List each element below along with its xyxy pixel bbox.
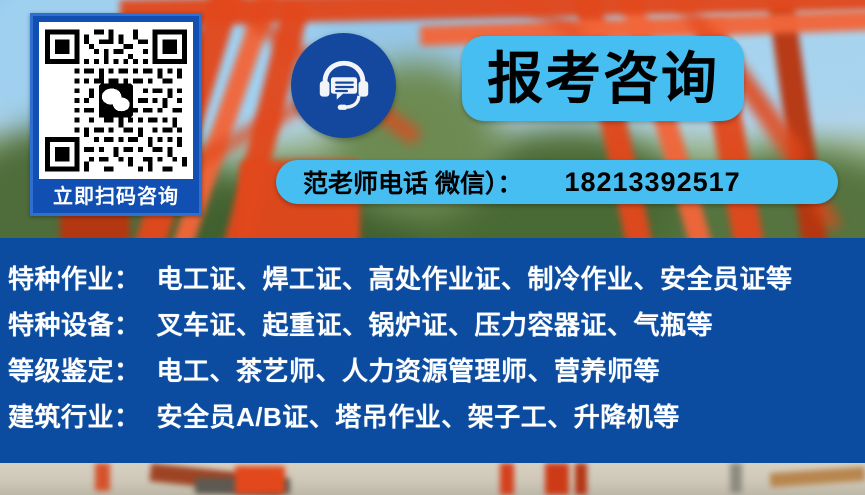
ground-object	[575, 463, 587, 495]
ground-object	[500, 463, 514, 495]
page-title: 报考咨询	[487, 51, 719, 107]
info-row-construction-industry: 建筑行业： 安全员A/B证、塔吊作业、架子工、升降机等	[0, 392, 865, 438]
info-row-label: 等级鉴定：	[8, 351, 141, 388]
info-row-label: 特种设备：	[8, 305, 141, 342]
contact-pill[interactable]: 范老师电话 微信）： 18213392517	[276, 160, 838, 204]
info-row-special-operations: 特种作业： 电工证、焊工证、高处作业证、制冷作业、安全员证等	[0, 254, 865, 300]
ground-object	[730, 463, 742, 493]
info-row-label: 特种作业：	[8, 259, 141, 296]
certification-list-panel: 特种作业： 电工证、焊工证、高处作业证、制冷作业、安全员证等 特种设备： 叉车证…	[0, 238, 865, 463]
info-row-value: 电工、茶艺师、人力资源管理师、营养师等	[157, 351, 661, 388]
qr-code-icon	[45, 28, 187, 173]
ground-object	[235, 466, 285, 494]
contact-phone-number[interactable]: 18213392517	[564, 167, 740, 198]
qr-card-caption: 立即扫码咨询	[39, 179, 193, 215]
headset-icon	[313, 55, 375, 117]
info-row-value: 电工证、焊工证、高处作业证、制冷作业、安全员证等	[157, 259, 793, 296]
info-row-label: 建筑行业：	[8, 397, 141, 434]
advertisement-poster: 立即扫码咨询	[0, 0, 865, 495]
info-row-grade-appraisal: 等级鉴定： 电工、茶艺师、人力资源管理师、营养师等	[0, 346, 865, 392]
title-pill: 报考咨询	[462, 36, 744, 121]
info-row-value: 安全员A/B证、塔吊作业、架子工、升降机等	[157, 397, 680, 434]
contact-label: 范老师电话 微信）：	[303, 164, 522, 200]
headset-support-button[interactable]	[291, 33, 396, 138]
ground-object	[95, 463, 110, 491]
qr-code-card[interactable]: 立即扫码咨询	[30, 13, 202, 216]
ground-object	[545, 463, 569, 495]
info-row-special-equipment: 特种设备： 叉车证、起重证、锅炉证、压力容器证、气瓶等	[0, 300, 865, 346]
qr-code-image[interactable]	[39, 22, 193, 179]
info-row-value: 叉车证、起重证、锅炉证、压力容器证、气瓶等	[157, 305, 714, 342]
